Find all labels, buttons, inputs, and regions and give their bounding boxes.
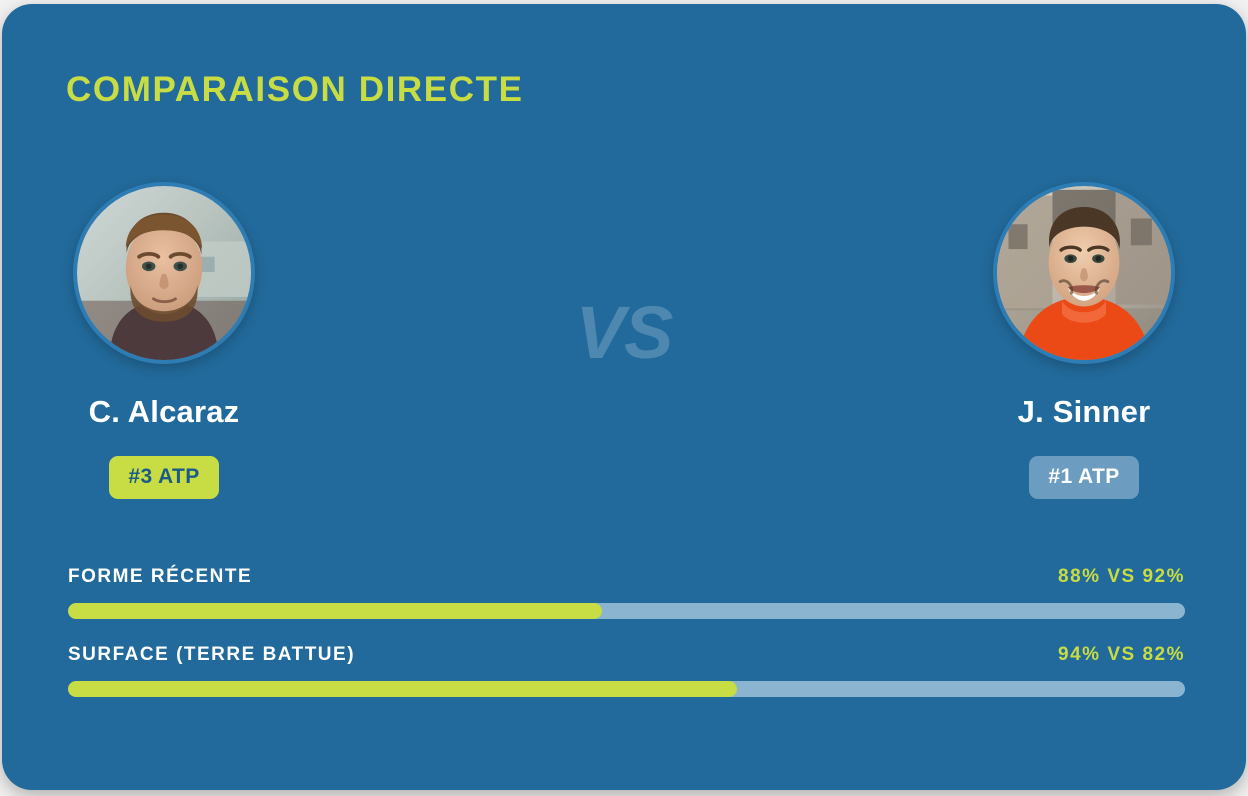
avatar-photo-sinner bbox=[993, 182, 1175, 364]
stat-bar-track-surface-terre-battue bbox=[68, 681, 1185, 697]
player-name-right: J. Sinner bbox=[1018, 394, 1151, 430]
screenshot-stage: COMPARAISON DIRECTE bbox=[0, 0, 1248, 796]
stat-header: SURFACE (TERRE BATTUE) 94% VS 82% bbox=[68, 644, 1185, 666]
stat-row-forme-recente: FORME RÉCENTE 88% VS 92% bbox=[68, 566, 1185, 619]
stat-label-surface-terre-battue: SURFACE (TERRE BATTUE) bbox=[68, 644, 355, 666]
page-title: COMPARAISON DIRECTE bbox=[66, 70, 524, 110]
stat-bar-fill-forme-recente bbox=[68, 603, 602, 619]
player-name-left: C. Alcaraz bbox=[89, 394, 240, 430]
stat-row-surface-terre-battue: SURFACE (TERRE BATTUE) 94% VS 82% bbox=[68, 644, 1185, 697]
stat-value-forme-recente: 88% VS 92% bbox=[1058, 566, 1185, 588]
stat-bar-fill-surface-terre-battue bbox=[68, 681, 737, 697]
versus-section: C. Alcaraz #3 ATP VS bbox=[2, 182, 1246, 522]
stat-label-forme-recente: FORME RÉCENTE bbox=[68, 566, 252, 588]
head-to-head-comparison-card: COMPARAISON DIRECTE bbox=[2, 4, 1246, 790]
player-rank-badge-left[interactable]: #3 ATP bbox=[109, 456, 218, 499]
avatar-photo-alcaraz bbox=[73, 182, 255, 364]
player-rank-badge-right[interactable]: #1 ATP bbox=[1029, 456, 1138, 499]
player-card-left[interactable]: C. Alcaraz #3 ATP bbox=[2, 182, 354, 499]
stat-value-surface-terre-battue: 94% VS 82% bbox=[1058, 644, 1185, 666]
stat-header: FORME RÉCENTE 88% VS 92% bbox=[68, 566, 1185, 588]
player-card-right[interactable]: J. Sinner #1 ATP bbox=[894, 182, 1246, 499]
stat-bar-track-forme-recente bbox=[68, 603, 1185, 619]
stats-section: FORME RÉCENTE 88% VS 92% SURFACE (TERRE … bbox=[68, 566, 1185, 697]
